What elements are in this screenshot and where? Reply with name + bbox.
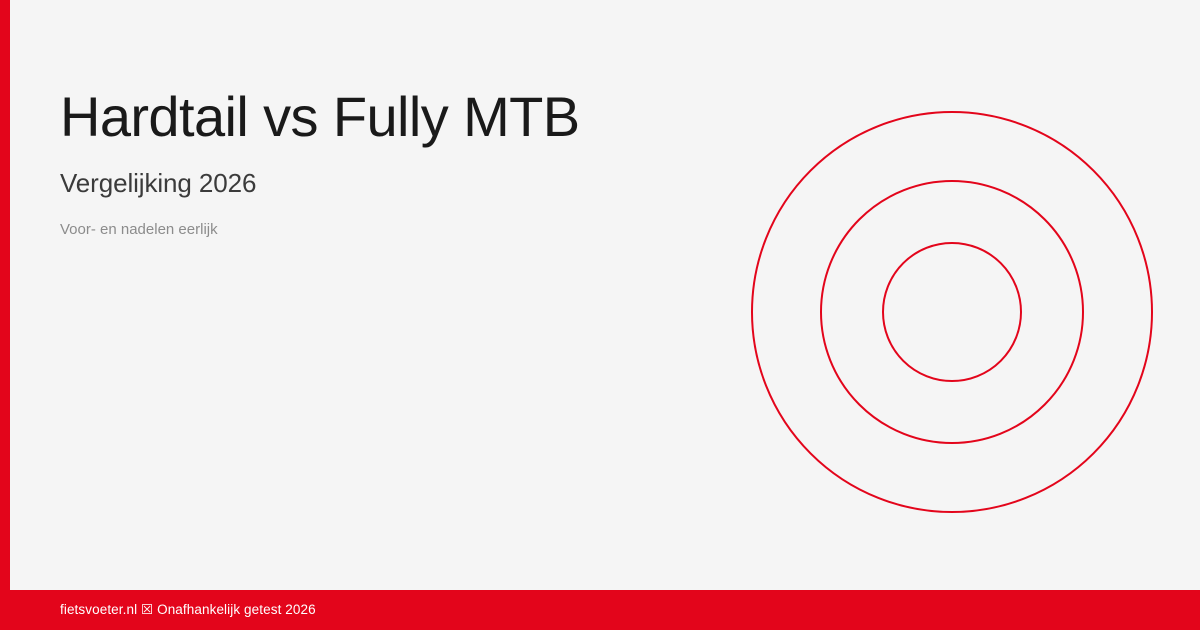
- ring-middle: [821, 181, 1083, 443]
- poster-canvas: Hardtail vs Fully MTB Vergelijking 2026 …: [0, 0, 1200, 630]
- hero-text-block: Hardtail vs Fully MTB Vergelijking 2026 …: [60, 86, 700, 239]
- ring-inner: [883, 243, 1021, 381]
- footer-credit: fietsvoeter.nl ☒ Onafhankelijk getest 20…: [60, 590, 316, 630]
- ring-outer: [752, 112, 1152, 512]
- page-subtitle: Vergelijking 2026: [60, 148, 700, 199]
- left-accent-bar: [0, 0, 10, 630]
- footer-bar: fietsvoeter.nl ☒ Onafhankelijk getest 20…: [0, 590, 1200, 630]
- page-tagline: Voor- en nadelen eerlijk: [60, 199, 700, 239]
- rings-svg: [751, 111, 1153, 513]
- concentric-rings-graphic: [751, 111, 1153, 513]
- page-title: Hardtail vs Fully MTB: [60, 86, 700, 148]
